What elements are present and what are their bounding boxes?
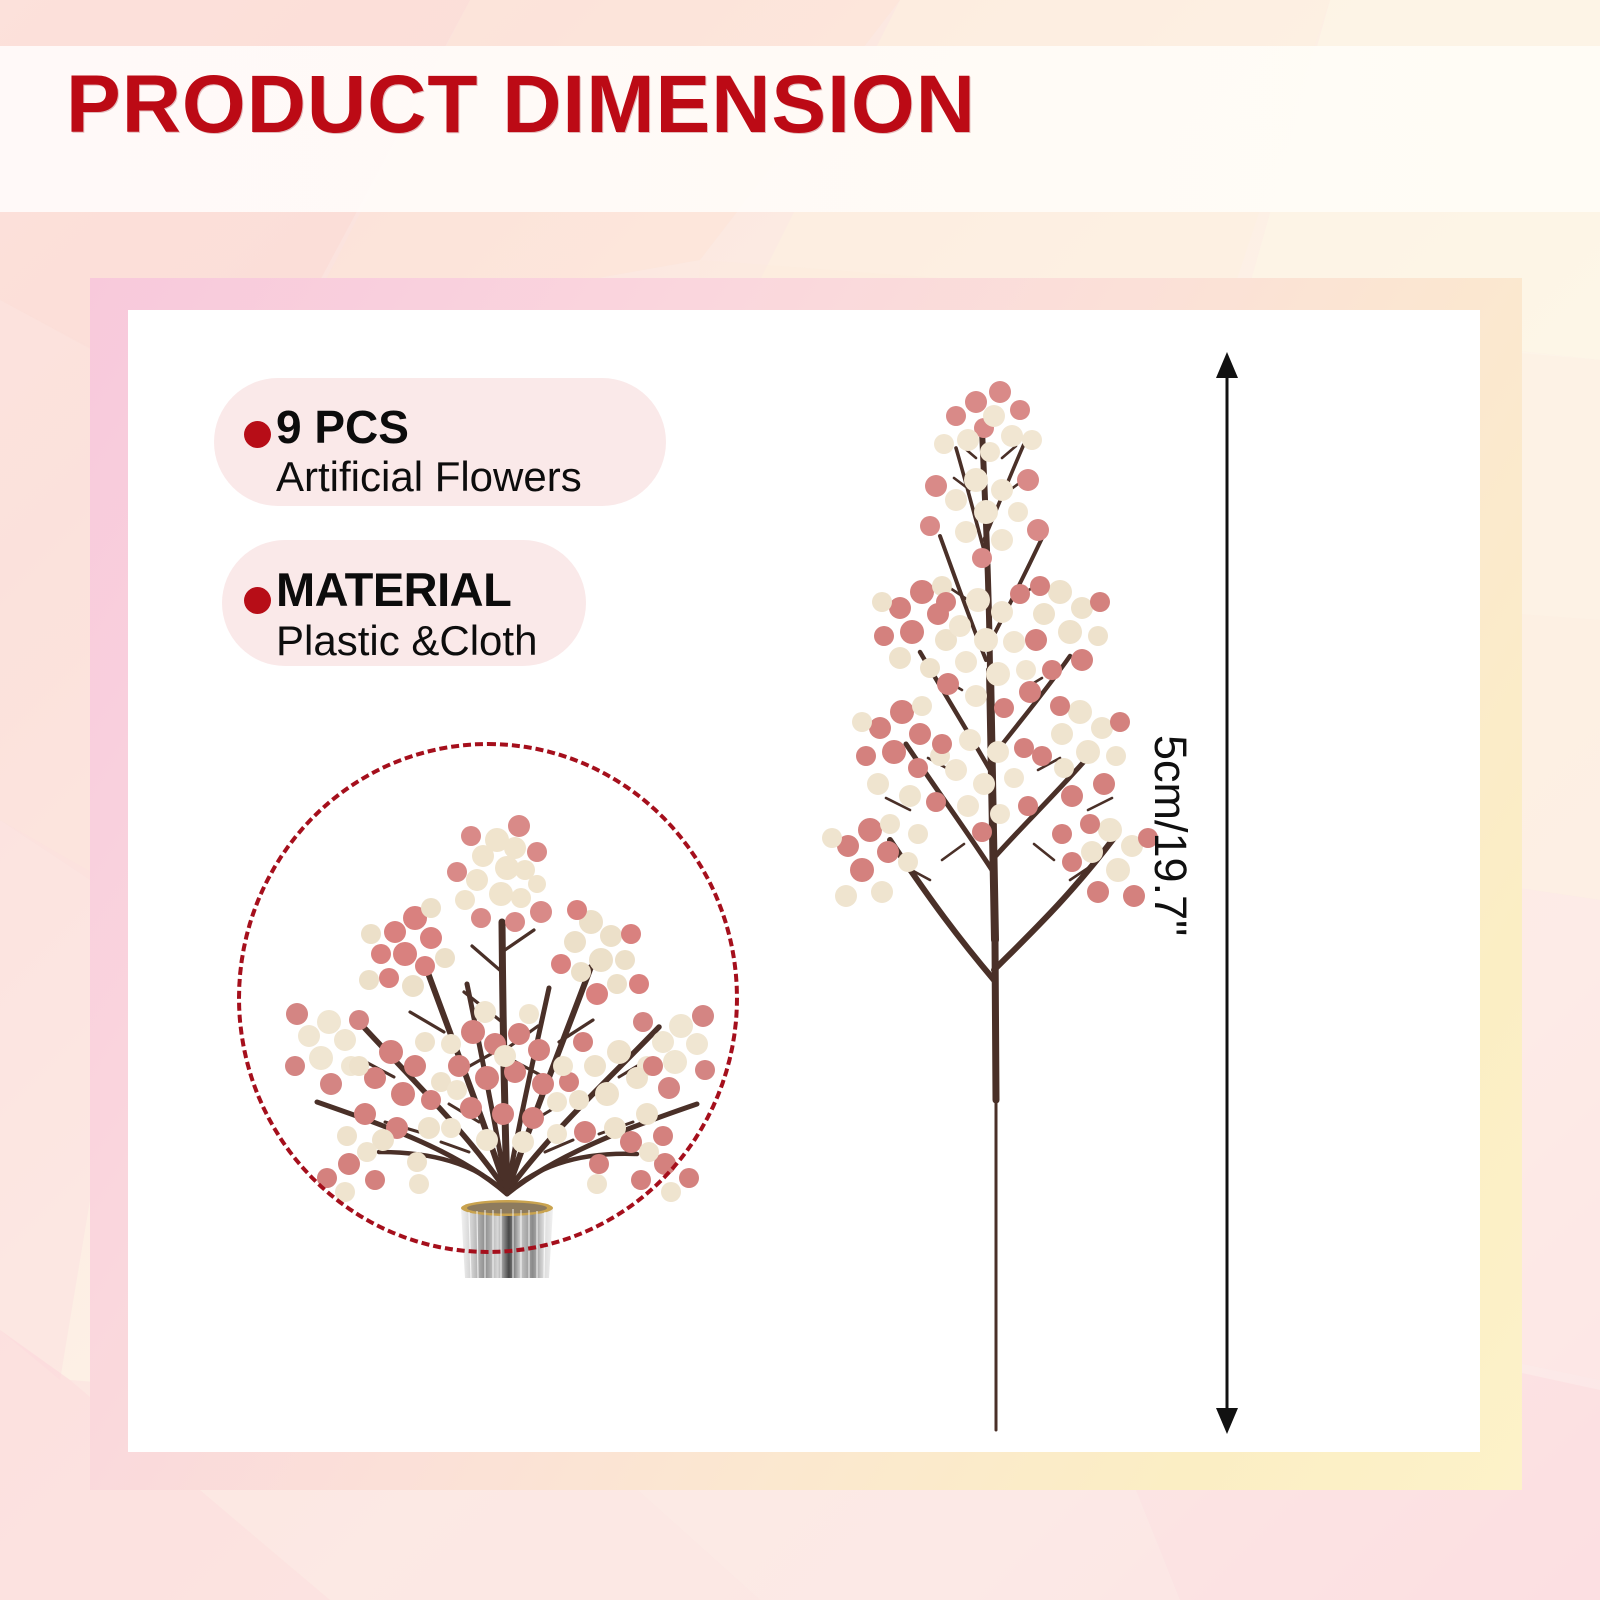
feature-title: 9 PCS bbox=[276, 404, 409, 450]
infographic-page: PRODUCT DIMENSION 9 PCS Artificial Flowe… bbox=[0, 0, 1600, 1600]
feature-subtitle: Plastic &Cloth bbox=[276, 620, 537, 662]
bullet-dot-icon bbox=[244, 587, 271, 614]
feature-subtitle: Artificial Flowers bbox=[276, 456, 582, 498]
feature-badge-material: MATERIAL Plastic &Cloth bbox=[222, 540, 586, 666]
feature-badge-pieces: 9 PCS Artificial Flowers bbox=[214, 378, 666, 506]
arrow-up-icon bbox=[1216, 352, 1238, 378]
bullet-dot-icon bbox=[244, 421, 271, 448]
dimension-label: 5cm/19.7" bbox=[1144, 735, 1196, 936]
dashed-highlight-circle bbox=[237, 742, 739, 1254]
bouquet-callout bbox=[237, 742, 739, 1254]
feature-title: MATERIAL bbox=[276, 566, 511, 613]
page-title: PRODUCT DIMENSION bbox=[66, 64, 976, 146]
dimension-line bbox=[1185, 348, 1275, 1438]
arrow-down-icon bbox=[1216, 1408, 1238, 1434]
